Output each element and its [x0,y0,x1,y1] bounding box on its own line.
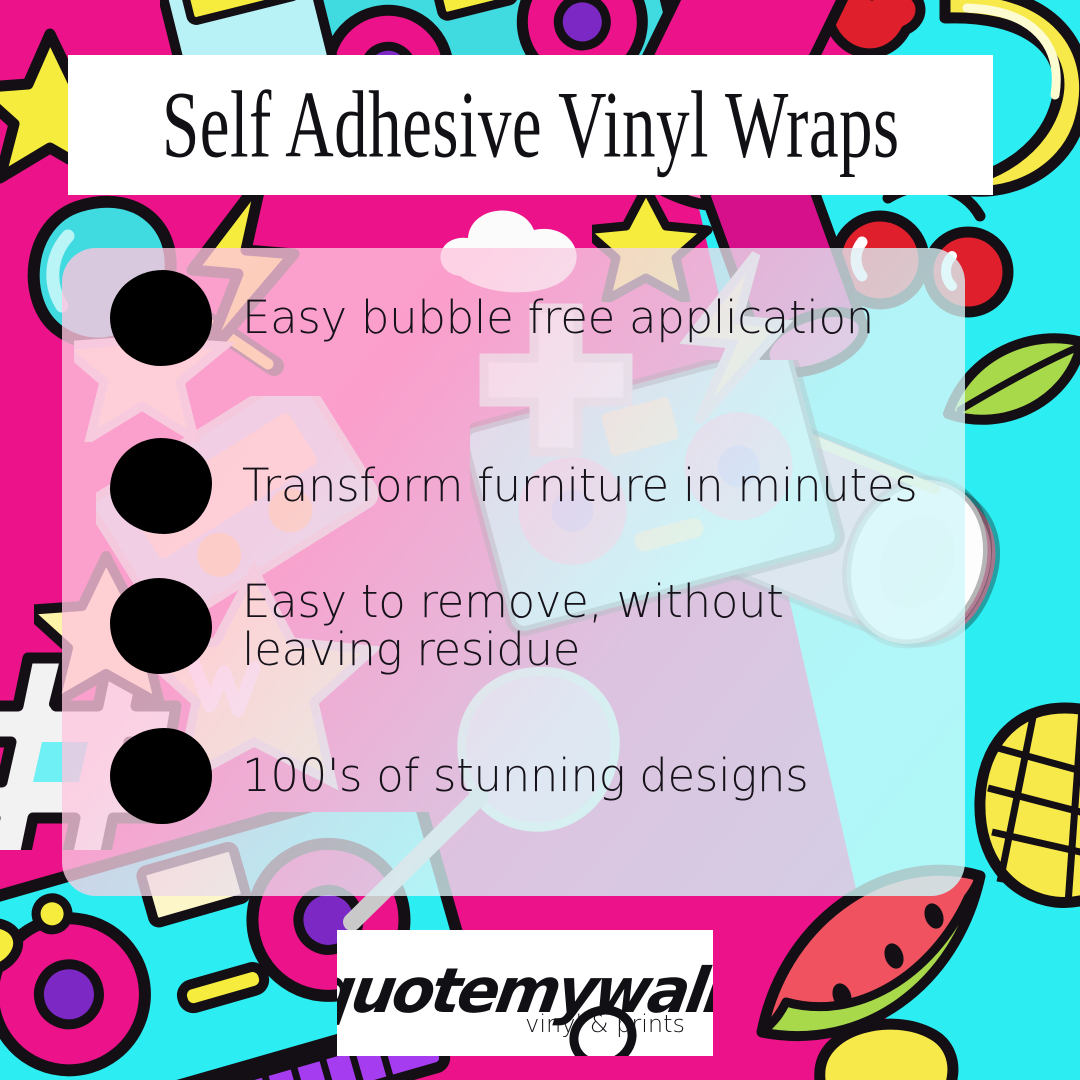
brand-logo-plate: quotemywall vinyl & prints [337,930,713,1056]
logo-tagline: vinyl & prints [525,1010,685,1038]
filled-blob-bullet-icon [110,270,212,366]
filled-blob-bullet-icon [110,438,212,534]
title-plate: Self Adhesive Vinyl Wraps [68,55,993,195]
feature-text: Easy to remove, without leaving residue [242,578,950,673]
list-item: Transform furniture in minutes [110,438,950,534]
list-item: Easy to remove, without leaving residue [110,578,950,674]
feature-text: Easy bubble free application [242,294,874,342]
features-panel: Easy bubble free application Transform f… [62,248,965,896]
features-list: Easy bubble free application Transform f… [62,248,965,896]
feature-text: 100's of stunning designs [242,752,808,800]
filled-blob-bullet-icon [110,578,212,674]
filled-blob-bullet-icon [110,728,212,824]
list-item: Easy bubble free application [110,270,950,366]
feature-text: Transform furniture in minutes [242,462,917,510]
page-title: Self Adhesive Vinyl Wraps [162,77,900,172]
poster-canvas: Self Adhesive Vinyl Wraps Easy bubble fr… [0,0,1080,1080]
list-item: 100's of stunning designs [110,728,950,824]
